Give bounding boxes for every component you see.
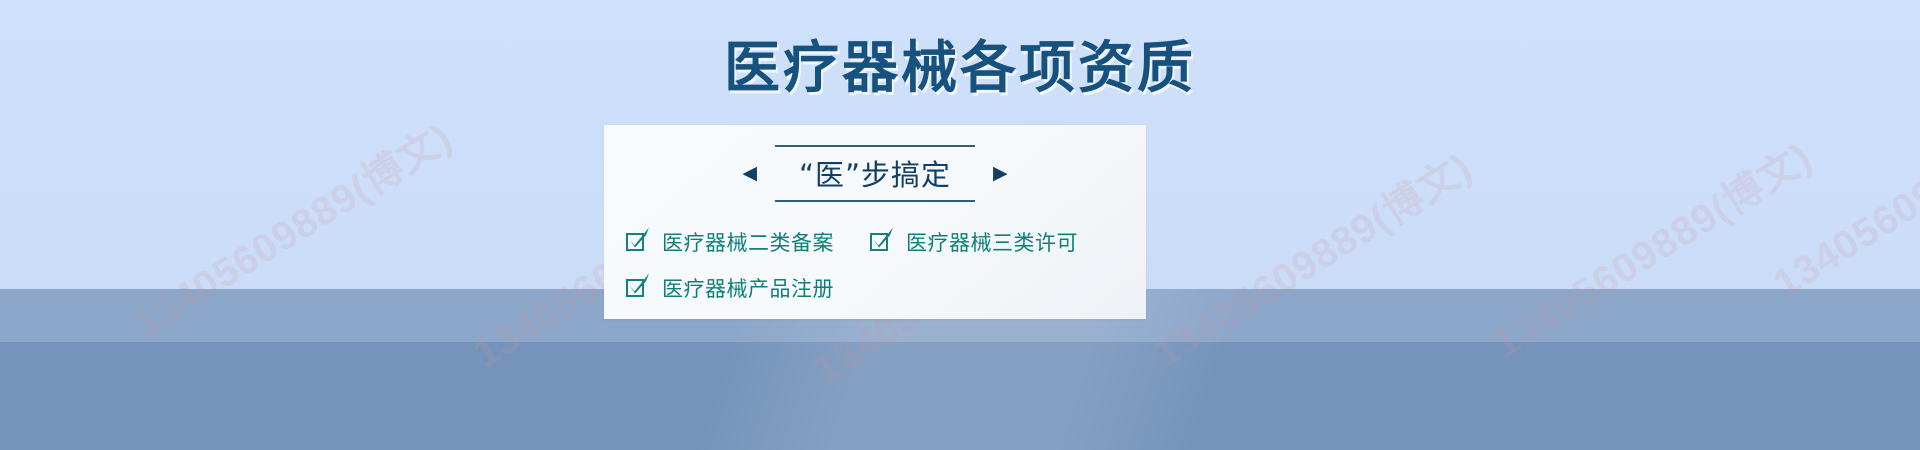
right-arrow-icon: ▶ [993,164,1008,183]
checklist-row: 医疗器械产品注册 [604,265,1146,311]
qualification-card: ◀ “医”步搞定 ▶ 医疗器械二类备案 [604,125,1146,319]
check-mark-icon [625,226,651,252]
left-arrow-icon: ◀ [742,164,757,183]
subtitle-box: “医”步搞定 [775,145,975,202]
checklist-item[interactable]: 医疗器械二类备案 [626,227,834,257]
check-mark-icon [625,272,651,298]
check-mark-icon [869,226,895,252]
checklist: 医疗器械二类备案 医疗器械三类许可 [604,219,1146,311]
checklist-item-label: 医疗器械三类许可 [906,227,1078,257]
checkbox-checked-icon[interactable] [626,277,648,299]
checklist-item[interactable]: 医疗器械产品注册 [626,273,834,303]
checklist-row: 医疗器械二类备案 医疗器械三类许可 [604,219,1146,265]
promo-banner: 13405609889(博文) 13405609889(博文) 13405609… [0,0,1920,450]
subtitle-row: ◀ “医”步搞定 ▶ [604,145,1146,202]
background-band-bottom [0,342,1920,450]
checklist-item-label: 医疗器械二类备案 [662,227,834,257]
checklist-item-label: 医疗器械产品注册 [662,273,834,303]
banner-title: 医疗器械各项资质 [0,38,1920,100]
checkbox-checked-icon[interactable] [626,231,648,253]
subtitle-text: “医”步搞定 [799,158,951,192]
checkbox-checked-icon[interactable] [870,231,892,253]
checklist-item[interactable]: 医疗器械三类许可 [870,227,1078,257]
